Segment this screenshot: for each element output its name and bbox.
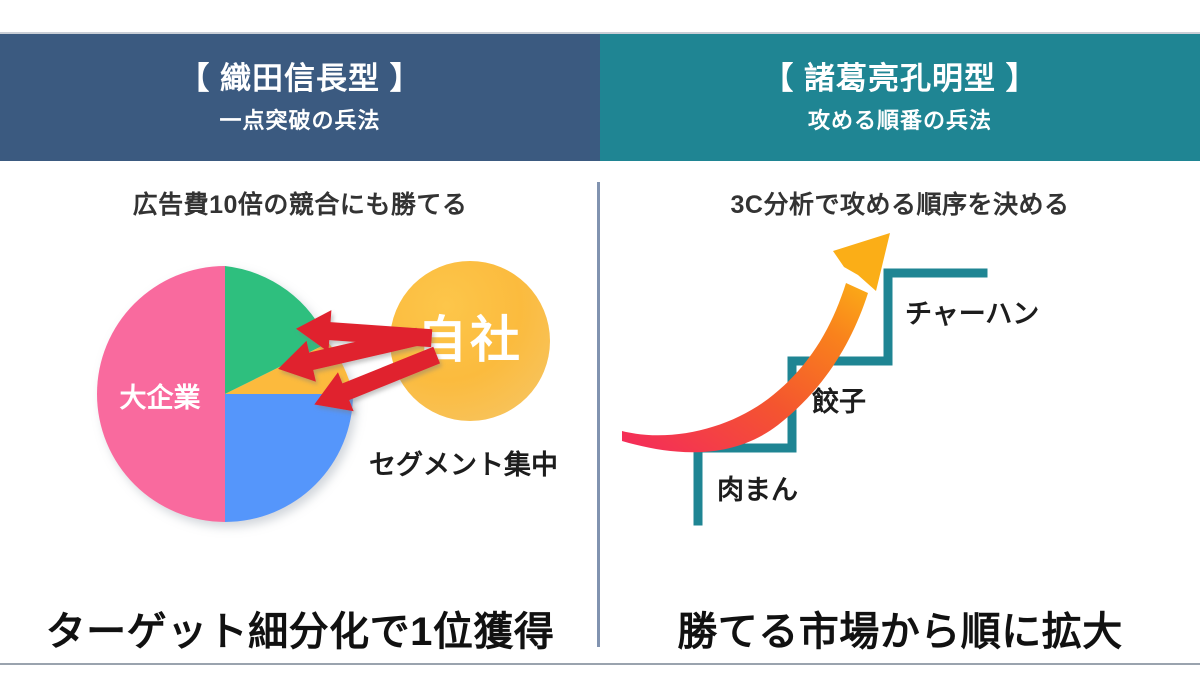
right-header-title: 【 諸葛亮孔明型 】 [762, 60, 1037, 99]
infographic-card: 【 織田信長型 】 一点突破の兵法 【 諸葛亮孔明型 】 攻める順番の兵法 広告… [0, 32, 1200, 665]
left-caption: ターゲット細分化で1位獲得 [0, 599, 600, 657]
staircase-graphic: 肉まん 餃子 チャーハン [600, 231, 1200, 561]
panes: 広告費10倍の競合にも勝てる [0, 161, 1200, 665]
growth-arrow [622, 233, 890, 452]
right-caption: 勝てる市場から順に拡大 [600, 599, 1200, 657]
left-panel-header: 【 織田信長型 】 一点突破の兵法 [0, 34, 600, 161]
staircase-svg: 肉まん 餃子 チャーハン [600, 231, 1200, 561]
infographic-root: 【 織田信長型 】 一点突破の兵法 【 諸葛亮孔明型 】 攻める順番の兵法 広告… [0, 0, 1200, 700]
pie-label-large-corp: 大企業 [120, 382, 201, 413]
left-header-title: 【 織田信長型 】 [178, 60, 421, 99]
pie-slice-competitor-c [225, 394, 353, 522]
step-label-2: チャーハン [905, 299, 1039, 329]
step-label-0: 肉まん [717, 475, 798, 505]
panel-divider [597, 182, 600, 647]
left-lead-text: 広告費10倍の競合にも勝てる [0, 185, 600, 221]
step-label-1: 餃子 [812, 386, 866, 417]
header-row: 【 織田信長型 】 一点突破の兵法 【 諸葛亮孔明型 】 攻める順番の兵法 [0, 34, 1200, 161]
right-panel: 3C分析で攻める順序を決める [600, 161, 1200, 665]
pie-chart-svg: 大企業 自社 [0, 231, 600, 561]
right-panel-header: 【 諸葛亮孔明型 】 攻める順番の兵法 [600, 34, 1200, 161]
pie-chart-graphic: 大企業 自社 [0, 231, 600, 561]
left-header-subtitle: 一点突破の兵法 [219, 108, 380, 134]
focus-note-label: セグメント集中 [369, 449, 558, 480]
right-header-subtitle: 攻める順番の兵法 [808, 108, 992, 134]
right-lead-text: 3C分析で攻める順序を決める [600, 185, 1200, 221]
left-panel: 広告費10倍の競合にも勝てる [0, 161, 600, 665]
